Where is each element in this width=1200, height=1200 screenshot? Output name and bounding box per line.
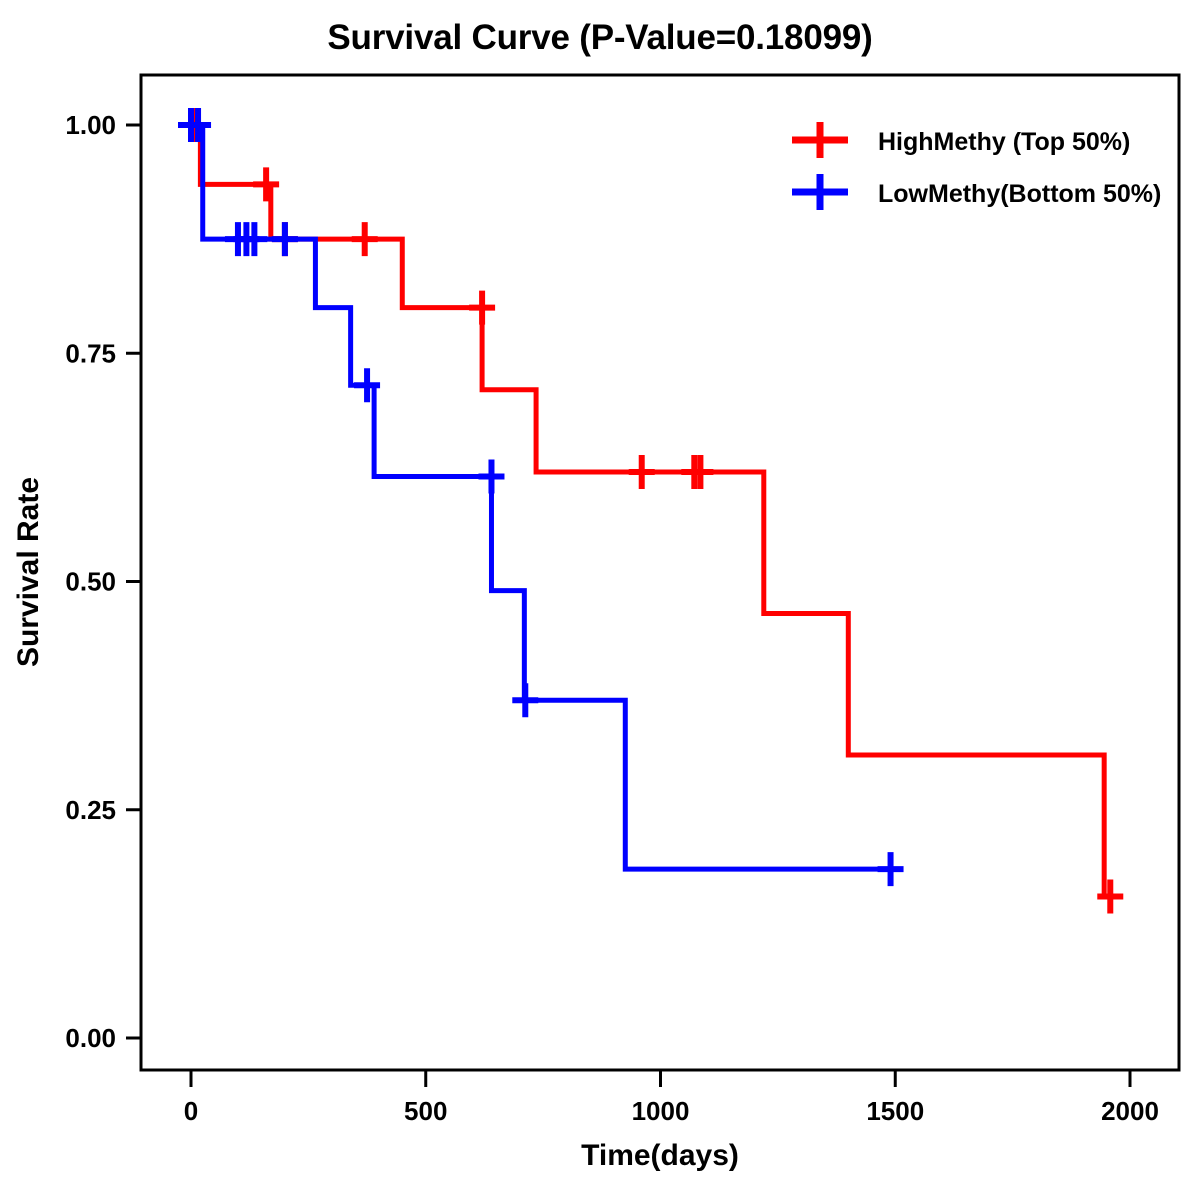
- x-tick-label: 1500: [866, 1096, 924, 1126]
- survival-curve-figure: Survival Curve (P-Value=0.18099) 0.000.2…: [0, 0, 1200, 1200]
- y-tick-label: 0.75: [65, 338, 116, 368]
- x-tick-label: 2000: [1101, 1096, 1159, 1126]
- legend-label: LowMethy(Bottom 50%): [878, 180, 1161, 208]
- y-axis-ticks: 0.000.250.500.751.00: [65, 110, 141, 1053]
- x-tick-label: 1000: [632, 1096, 690, 1126]
- y-axis-title: Survival Rate: [12, 477, 45, 667]
- x-tick-label: 0: [184, 1096, 198, 1126]
- y-tick-label: 0.00: [65, 1023, 116, 1053]
- y-tick-label: 0.25: [65, 795, 116, 825]
- x-tick-label: 500: [404, 1096, 447, 1126]
- plot-frame: [141, 75, 1179, 1070]
- legend-label: HighMethy (Top 50%): [878, 128, 1130, 156]
- x-axis-title: Time(days): [581, 1139, 739, 1172]
- y-tick-label: 0.50: [65, 567, 116, 597]
- plot-area: 0.000.250.500.751.00 0500100015002000 Hi…: [0, 0, 1200, 1200]
- y-tick-label: 1.00: [65, 110, 116, 140]
- x-axis-ticks: 0500100015002000: [184, 1070, 1159, 1126]
